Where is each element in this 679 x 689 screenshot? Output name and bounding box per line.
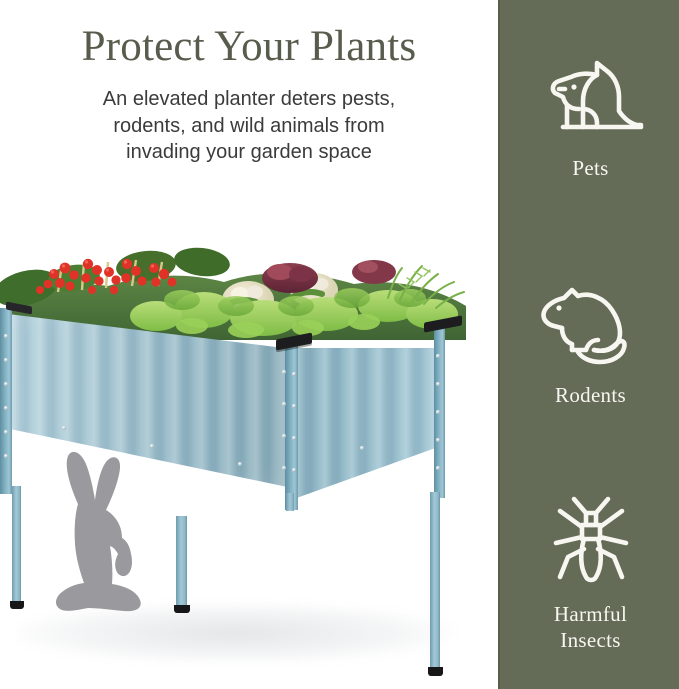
- planter-corner-post-mid: [285, 342, 298, 510]
- screw: [4, 382, 8, 386]
- screw: [292, 468, 296, 472]
- screw: [4, 334, 8, 338]
- screw: [282, 466, 286, 470]
- screw: [238, 462, 242, 466]
- feature-harmful-insects: Harmful Insects: [500, 459, 679, 689]
- feature-label-line-1: Harmful: [554, 602, 627, 626]
- subtitle: An elevated planter deters pests, rodent…: [40, 86, 458, 166]
- screw: [282, 370, 286, 374]
- screw: [436, 410, 440, 414]
- subtitle-line-2: rodents, and wild animals from: [40, 113, 458, 140]
- planter-leg-front-right: [430, 492, 440, 670]
- planter-leg-mid: [176, 516, 187, 608]
- leg-foot-cap: [174, 605, 190, 613]
- screw: [292, 436, 296, 440]
- screw: [360, 446, 364, 450]
- leg-foot-cap: [10, 601, 24, 609]
- marketing-infographic: Protect Your Plants An elevated planter …: [0, 0, 679, 689]
- feature-label-rodents: Rodents: [555, 382, 626, 408]
- feature-label-line-2: Insects: [554, 627, 627, 653]
- planter-right-panel: [291, 348, 443, 500]
- screw: [282, 434, 286, 438]
- screw: [292, 404, 296, 408]
- feature-label-pets: Pets: [572, 155, 608, 181]
- feature-sidebar: Pets Rodents: [498, 0, 679, 689]
- feature-rodents: Rodents: [500, 230, 679, 460]
- product-image-planter: [0, 228, 498, 689]
- screw: [282, 402, 286, 406]
- planter-leg-front-left: [12, 486, 21, 604]
- page-title: Protect Your Plants: [0, 22, 498, 72]
- screw: [436, 438, 440, 442]
- screw: [4, 358, 8, 362]
- screw: [436, 354, 440, 358]
- rodent-icon: [536, 282, 646, 368]
- insect-icon: [542, 495, 640, 587]
- rabbit-silhouette: [34, 446, 160, 636]
- feature-pets: Pets: [500, 0, 679, 230]
- feature-label-harmful-insects: Harmful Insects: [554, 601, 627, 653]
- subtitle-line-3: invading your garden space: [40, 139, 458, 166]
- right-panel-shading: [291, 348, 443, 500]
- screw: [4, 406, 8, 410]
- screw: [292, 372, 296, 376]
- dog-icon: [537, 49, 645, 141]
- screw: [436, 382, 440, 386]
- screw: [436, 466, 440, 470]
- subtitle-line-1: An elevated planter deters pests,: [40, 86, 458, 113]
- left-content-pane: Protect Your Plants An elevated planter …: [0, 0, 498, 689]
- screw: [4, 454, 8, 458]
- planter-leg-back-right: [286, 493, 294, 511]
- screw: [4, 430, 8, 434]
- screw: [62, 426, 66, 430]
- leg-foot-cap: [428, 667, 443, 676]
